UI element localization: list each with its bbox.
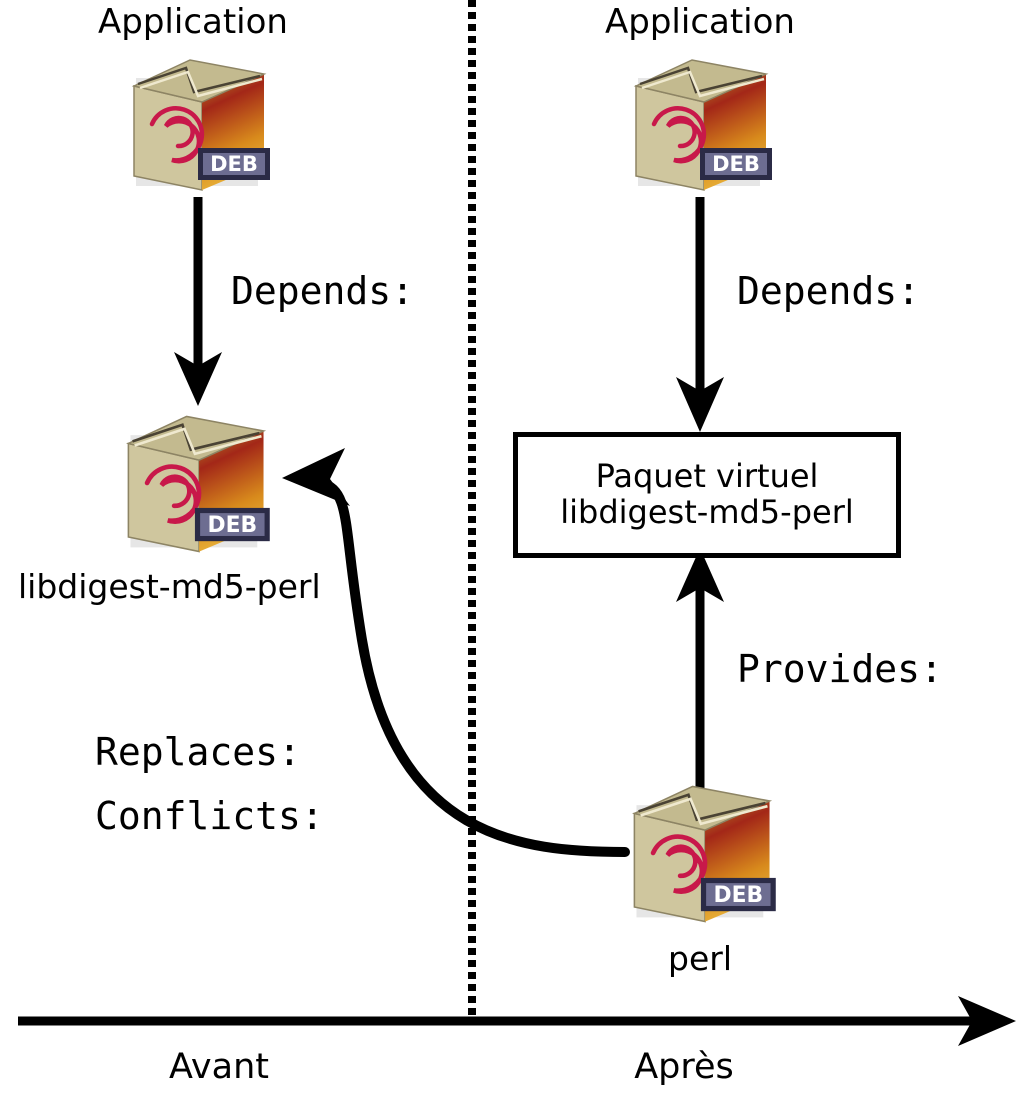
label-provides: Provides: (737, 650, 943, 688)
deb-badge: DEB (701, 878, 776, 911)
title-application-right: Application (605, 5, 795, 39)
label-depends-right: Depends: (737, 272, 920, 310)
virtual-package-line-1: Paquet virtuel (560, 459, 854, 495)
label-perl: perl (668, 942, 732, 975)
deb-badge: DEB (700, 148, 772, 180)
arrow-depends-right (676, 197, 724, 432)
svg-text:DEB: DEB (208, 513, 258, 538)
debian-package-icon: DEB (124, 52, 276, 198)
label-libdigest-md5-perl: libdigest-md5-perl (18, 570, 321, 603)
deb-badge: DEB (198, 148, 270, 180)
label-replaces: Replaces: (95, 733, 301, 771)
debian-package-icon: DEB (626, 52, 778, 198)
debian-package-icon: DEB (624, 778, 782, 930)
diagram-canvas: DEB DEB (0, 0, 1024, 1094)
title-application-left: Application (98, 5, 288, 39)
virtual-package-box-text: Paquet virtuel libdigest-md5-perl (560, 459, 854, 531)
debian-package-icon: DEB (118, 408, 276, 560)
axis-label-after: Après (634, 1050, 734, 1085)
time-axis (18, 996, 1016, 1046)
svg-text:DEB: DEB (714, 883, 764, 908)
virtual-package-line-2: libdigest-md5-perl (560, 495, 854, 531)
deb-badge: DEB (195, 508, 270, 541)
svg-text:DEB: DEB (210, 152, 258, 176)
svg-text:DEB: DEB (712, 152, 760, 176)
arrow-depends-left (174, 197, 222, 406)
label-depends-left: Depends: (231, 272, 414, 310)
label-conflicts: Conflicts: (95, 797, 324, 835)
axis-label-before: Avant (169, 1050, 269, 1085)
virtual-package-box: Paquet virtuel libdigest-md5-perl (513, 432, 901, 558)
